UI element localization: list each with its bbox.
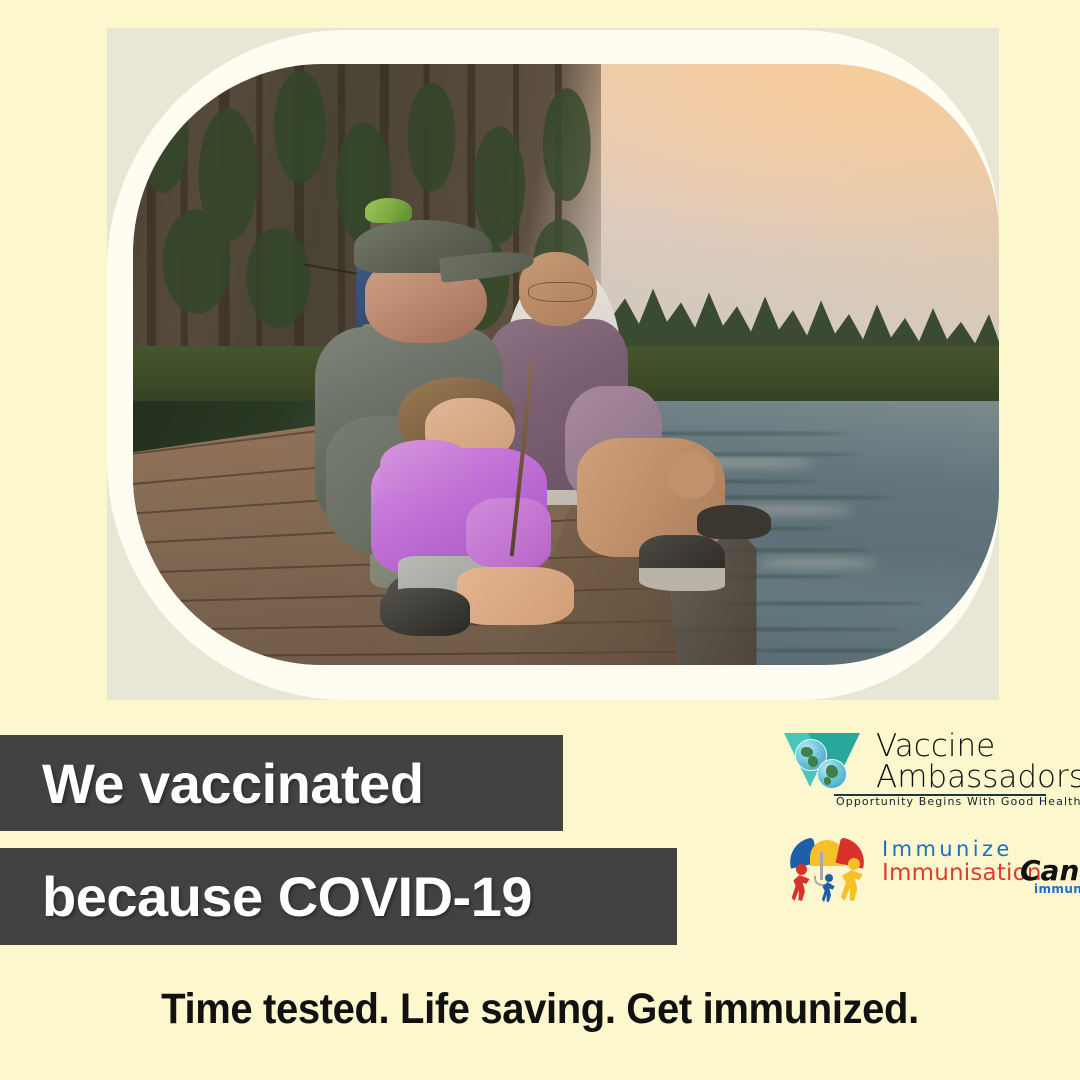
va-line-2: Ambassadors <box>876 761 1080 793</box>
poster-canvas: We vaccinated because COVID-19 Time test… <box>0 0 1080 1080</box>
figure-red-icon <box>788 864 814 902</box>
immunize-ca-url[interactable]: immunize.ca <box>1034 882 1080 896</box>
va-tagline: Opportunity Begins With Good Health <box>836 795 1048 808</box>
figure-yellow-icon <box>838 858 868 902</box>
headline-line-2: because COVID-19 <box>42 864 532 929</box>
globe-icon-2 <box>817 759 847 789</box>
vaccine-ambassadors-logo[interactable]: Vaccine Ambassadors Opportunity Begins W… <box>784 731 1046 813</box>
figure-blue-icon <box>818 874 838 902</box>
headline-line-1: We vaccinated <box>42 751 424 816</box>
toddler-figure <box>367 377 592 641</box>
tagline-text: Time tested. Life saving. Get immunized. <box>38 985 1042 1034</box>
immunize-canada-logo[interactable]: Immunize Immunisation Canada immunize.ca <box>784 838 1050 904</box>
headline-banner-1: We vaccinated <box>0 735 563 831</box>
immunize-canada-wordmark: Immunize Immunisation <box>882 838 1042 886</box>
immunize-en: Immunize <box>882 838 1042 861</box>
sandal <box>697 505 771 539</box>
va-line-1: Vaccine <box>876 731 1080 761</box>
hero-photo-scene <box>133 64 999 665</box>
immunisation-fr: Immunisation <box>882 861 1042 886</box>
sneaker-sole-view <box>639 535 725 591</box>
headline-banner-2: because COVID-19 <box>0 848 677 945</box>
vaccine-ambassadors-mark-icon <box>784 733 870 789</box>
hero-photo <box>133 64 999 665</box>
immunize-canada-mark-icon <box>784 838 880 902</box>
vaccine-ambassadors-wordmark: Vaccine Ambassadors <box>876 731 1080 793</box>
